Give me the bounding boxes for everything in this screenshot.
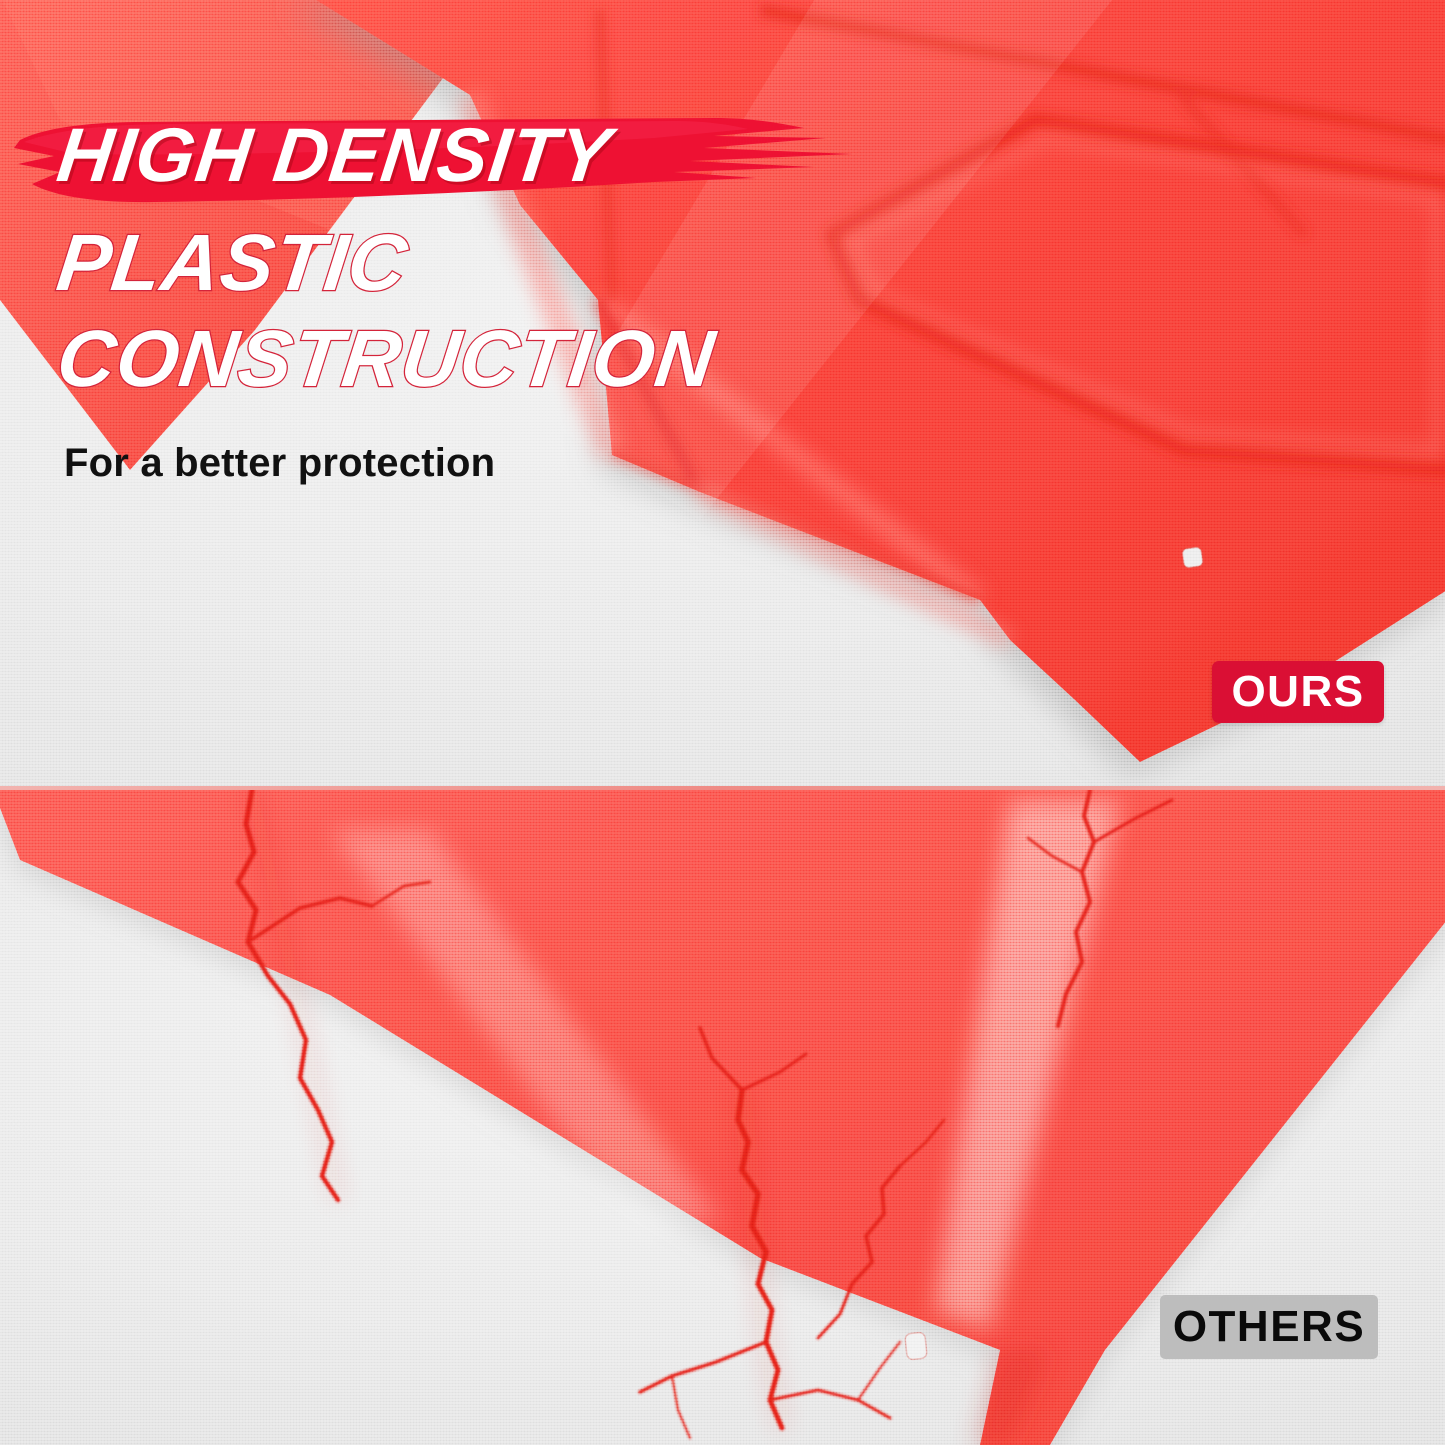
infographic-canvas: HIGH DENSITY PLASTIC CONSTRUCTION For a … <box>0 0 1445 1445</box>
badge-others: OTHERS <box>1160 1295 1378 1359</box>
badge-ours: OURS <box>1212 661 1384 723</box>
square-hole-icon <box>905 1332 928 1360</box>
